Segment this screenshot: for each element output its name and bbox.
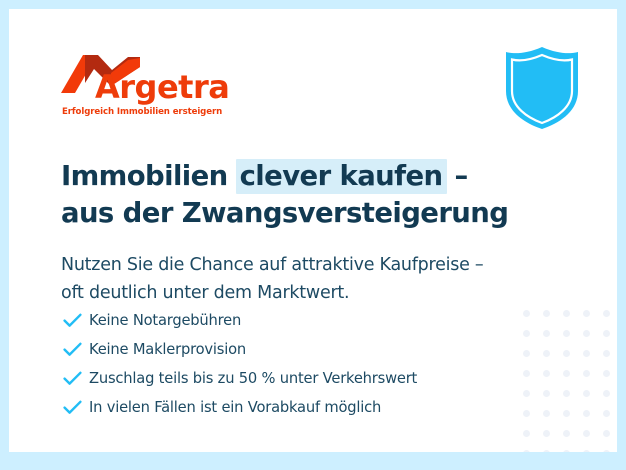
dot-decoration [563,430,570,437]
subheadline: Nutzen Sie die Chance auf attraktive Kau… [61,251,581,307]
dot-decoration [583,450,590,452]
shield-badge-icon [496,41,588,133]
page-title: Immobilien clever kaufen – aus der Zwang… [61,158,561,232]
dot-decoration [523,450,530,452]
dot-decoration [603,350,610,357]
dot-decoration [543,370,550,377]
subheadline-line-2: oft deutlich unter dem Marktwert. [61,279,581,307]
badge-line-1: MARKT [588,65,617,80]
dot-decoration [583,370,590,377]
dot-decoration [543,450,550,452]
list-item: Zuschlag teils bis zu 50 % unter Verkehr… [63,364,533,393]
benefits-list: Keine Notargebühren Keine Maklerprovisio… [63,306,533,422]
market-leader-badge: MARKT FÜHRER [496,41,588,133]
dot-decoration [563,390,570,397]
list-item: Keine Maklerprovision [63,335,533,364]
dot-decoration [603,450,610,452]
badge-line-2: FÜHRER [588,81,617,94]
dot-decoration [603,430,610,437]
dot-decoration [583,430,590,437]
dot-decoration [583,310,590,317]
dot-decoration [583,410,590,417]
list-item: Keine Notargebühren [63,306,533,335]
dot-decoration [543,410,550,417]
headline-line-2: aus der Zwangsversteigerung [61,195,561,232]
dot-decoration [543,310,550,317]
dot-decoration [583,390,590,397]
dot-decoration [583,330,590,337]
list-item: In vielen Fällen ist ein Vorabkauf mögli… [63,393,533,422]
check-icon [63,341,89,359]
dot-decoration [563,410,570,417]
dot-decoration [543,390,550,397]
subheadline-line-1: Nutzen Sie die Chance auf attraktive Kau… [61,251,581,279]
dot-decoration [603,390,610,397]
dot-decoration [603,370,610,377]
dot-decoration [603,310,610,317]
dot-decoration [563,450,570,452]
headline-highlight: clever kaufen [236,159,447,194]
check-icon [63,370,89,388]
argetra-logo[interactable]: Argetra Erfolgreich Immobilien ersteiger… [61,53,211,123]
dot-decoration [603,410,610,417]
check-icon [63,312,89,330]
headline-text-after: – [446,160,468,192]
dot-decoration [543,350,550,357]
dot-decoration [563,310,570,317]
logo-tagline: Erfolgreich Immobilien ersteigern [62,107,222,117]
content-card: Argetra Erfolgreich Immobilien ersteiger… [9,9,617,452]
dot-decoration [543,430,550,437]
benefit-label: Zuschlag teils bis zu 50 % unter Verkehr… [89,370,417,387]
benefit-label: In vielen Fällen ist ein Vorabkauf mögli… [89,399,381,416]
dot-decoration [563,350,570,357]
headline-text-before: Immobilien [61,160,237,192]
dot-decoration [563,370,570,377]
dot-decoration [583,350,590,357]
logo-wordmark: Argetra [95,71,229,103]
advertisement-banner: Argetra Erfolgreich Immobilien ersteiger… [0,0,626,470]
benefit-label: Keine Maklerprovision [89,341,246,358]
check-icon [63,399,89,417]
dot-grid-decoration [523,310,617,452]
benefit-label: Keine Notargebühren [89,312,241,329]
dot-decoration [603,330,610,337]
headline-line-1: Immobilien clever kaufen – [61,158,561,195]
dot-decoration [543,330,550,337]
badge-stars-icon [588,98,617,119]
dot-decoration [563,330,570,337]
dot-decoration [523,430,530,437]
